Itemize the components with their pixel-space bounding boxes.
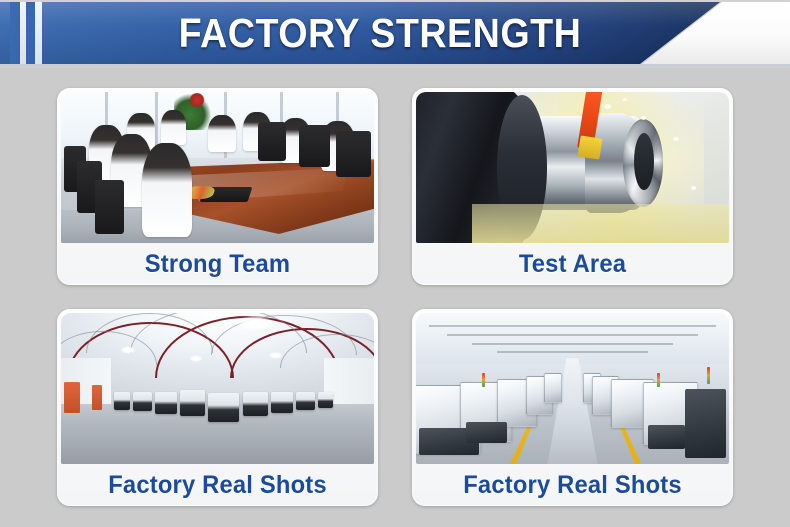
factory-strength-banner: FACTORY STRENGTH — [0, 0, 790, 527]
cnc-machine — [296, 392, 315, 410]
banner-stripe-1 — [10, 2, 20, 64]
cnc-machine-rows-photo — [416, 313, 729, 464]
card-strong-team[interactable]: Strong Team — [57, 88, 378, 285]
status-tower-light — [657, 373, 660, 387]
card-grid: Strong Team Test Area — [57, 88, 733, 506]
cnc-machine — [155, 392, 177, 415]
meeting-room-photo — [61, 92, 374, 243]
machine-base — [466, 422, 507, 443]
ceiling-lamp — [236, 315, 274, 331]
bearing-bore — [634, 133, 654, 190]
status-tower-light — [482, 373, 485, 387]
office-chair — [336, 131, 370, 176]
office-chair — [258, 122, 286, 161]
office-chair — [299, 125, 330, 167]
office-chair — [95, 180, 123, 234]
coolant-pool — [472, 204, 729, 243]
coolant-droplet — [604, 104, 611, 109]
card-caption: Test Area — [420, 243, 725, 285]
coolant-droplet — [623, 98, 627, 101]
ceiling-truss — [447, 334, 697, 336]
banner-bottom-edge — [0, 64, 790, 68]
machine-base — [648, 425, 686, 449]
card-machine-rows[interactable]: Factory Real Shots — [412, 309, 733, 506]
cnc-machine — [114, 392, 130, 410]
ceiling-truss — [472, 343, 672, 345]
cnc-machine — [271, 392, 293, 413]
cutting-tool-tip — [577, 136, 602, 160]
cnc-machine — [133, 392, 152, 412]
person-figure — [161, 110, 186, 145]
cnc-machine — [180, 390, 205, 416]
page-title: FACTORY STRENGTH — [30, 2, 729, 64]
header-banner: FACTORY STRENGTH — [0, 0, 790, 68]
orange-door — [92, 385, 101, 409]
card-factory-hall[interactable]: Factory Real Shots — [57, 309, 378, 506]
card-test-area[interactable]: Test Area — [412, 88, 733, 285]
person-figure — [142, 143, 192, 237]
person-figure — [208, 115, 236, 153]
cnc-machine — [544, 373, 562, 402]
cnc-machine — [243, 392, 268, 416]
card-caption: Factory Real Shots — [65, 464, 370, 506]
orange-door — [64, 382, 80, 412]
card-caption: Strong Team — [65, 243, 370, 285]
cnc-machine — [318, 392, 334, 409]
ceiling-truss — [429, 325, 717, 327]
ceiling-truss — [497, 351, 647, 353]
cnc-turning-closeup-photo — [416, 92, 729, 243]
factory-hall-panorama-photo — [61, 313, 374, 464]
status-tower-light — [707, 367, 710, 384]
card-caption: Factory Real Shots — [420, 464, 725, 506]
machine-control-cabinet — [685, 389, 726, 458]
ceiling — [416, 313, 729, 364]
cnc-machine — [208, 393, 239, 422]
